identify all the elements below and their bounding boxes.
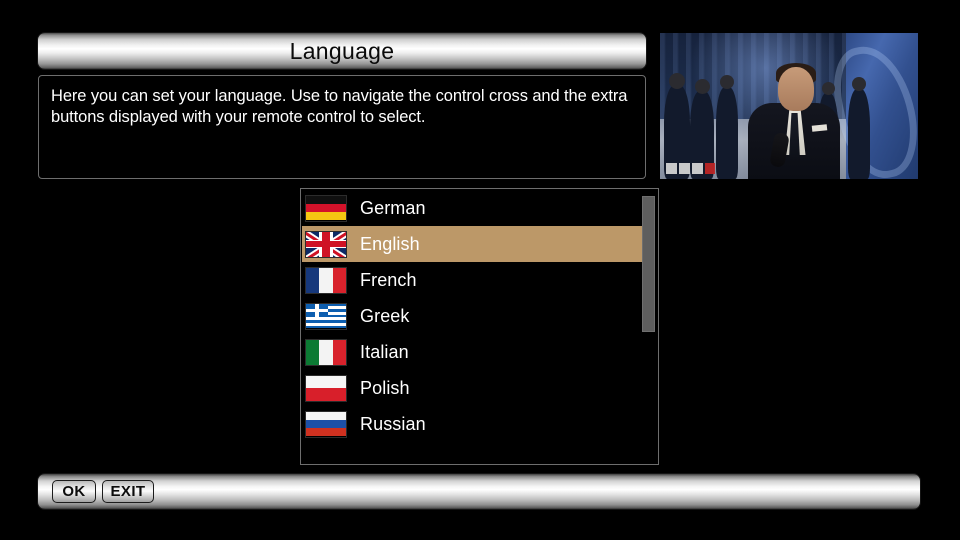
ok-button[interactable]: OK: [52, 480, 96, 503]
language-label: Russian: [360, 414, 426, 435]
flag-band: [306, 268, 319, 293]
flag-band: [306, 212, 346, 220]
video-crowd-head: [669, 73, 685, 89]
flag-band: [306, 340, 319, 365]
page-title: Language: [290, 40, 395, 63]
flag-icon-gb: [305, 231, 347, 258]
language-label: Greek: [360, 306, 410, 327]
flag-band: [306, 204, 346, 212]
info-box: Here you can set your language. Use to n…: [38, 75, 646, 179]
language-label: Italian: [360, 342, 409, 363]
title-bar: Language: [38, 33, 646, 69]
info-text: Here you can set your language. Use to n…: [51, 86, 633, 128]
language-list-panel: GermanEnglishFrenchGreekItalianPolishRus…: [300, 188, 659, 465]
flag-icon-fr: [305, 267, 347, 294]
flag-cross-red-h: [306, 241, 346, 247]
video-crowd-person: [848, 89, 870, 179]
flag-band: [306, 420, 346, 428]
flag-band: [306, 196, 346, 204]
flag-cross-h: [306, 309, 328, 312]
language-list-item[interactable]: German: [302, 190, 643, 226]
video-crowd-head: [720, 75, 734, 89]
video-crowd-head: [852, 77, 866, 91]
language-list-item[interactable]: Polish: [302, 370, 643, 406]
scrollbar-thumb[interactable]: [642, 196, 655, 332]
tv-settings-screen: Language Here you can set your language.…: [0, 0, 960, 540]
language-label: Polish: [360, 378, 410, 399]
logo-segment: [679, 163, 690, 174]
flag-band: [306, 388, 346, 401]
logo-segment-accent: [705, 163, 715, 174]
flag-band: [319, 268, 332, 293]
language-list-item[interactable]: Italian: [302, 334, 643, 370]
flag-band: [306, 428, 346, 436]
channel-logo: [666, 162, 752, 175]
flag-icon-ru: [305, 411, 347, 438]
flag-band: [333, 268, 346, 293]
flag-icon-de: [305, 195, 347, 222]
logo-segment: [666, 163, 677, 174]
scrollbar-track[interactable]: [642, 191, 655, 463]
logo-segment: [692, 163, 703, 174]
language-list-item[interactable]: Greek: [302, 298, 643, 334]
video-crowd-head: [695, 79, 710, 94]
language-list-item[interactable]: English: [302, 226, 643, 262]
flag-band: [306, 412, 346, 420]
language-list: GermanEnglishFrenchGreekItalianPolishRus…: [302, 190, 643, 442]
flag-icon-it: [305, 339, 347, 366]
language-label: French: [360, 270, 417, 291]
video-subject-face: [778, 67, 814, 111]
language-label: German: [360, 198, 426, 219]
flag-band: [333, 340, 346, 365]
flag-icon-gr: [305, 303, 347, 330]
language-label: English: [360, 234, 420, 255]
flag-band: [306, 376, 346, 389]
language-list-item[interactable]: French: [302, 262, 643, 298]
flag-band: [319, 340, 332, 365]
language-list-item[interactable]: Russian: [302, 406, 643, 442]
video-crowd-head: [822, 82, 835, 95]
flag-icon-pl: [305, 375, 347, 402]
flag-band: [306, 326, 346, 329]
video-preview[interactable]: [660, 33, 918, 179]
exit-button[interactable]: EXIT: [102, 480, 154, 503]
bottom-button-bar: OK EXIT: [38, 474, 920, 509]
